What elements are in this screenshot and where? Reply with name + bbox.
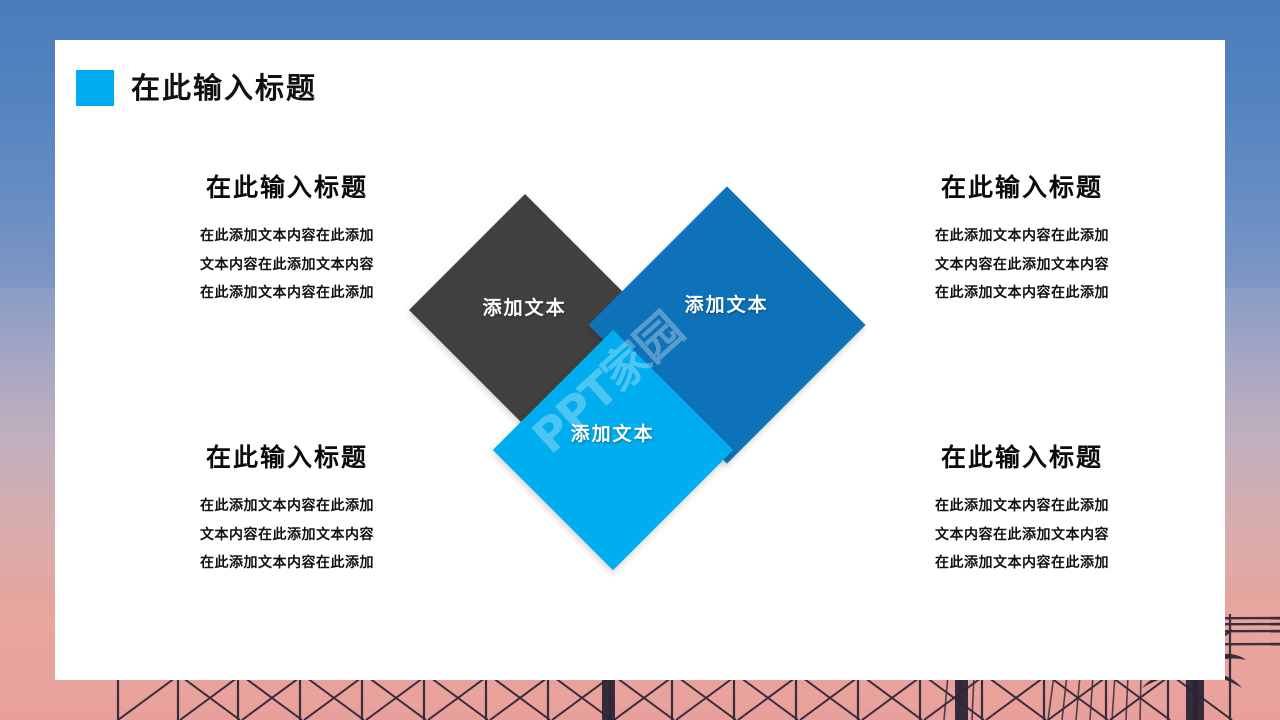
diamond-shape-blue: 添加文本: [588, 186, 865, 463]
quadrant-bottom-left: 在此输入标题 在此添加文本内容在此添加 文本内容在此添加文本内容 在此添加文本内…: [137, 438, 437, 578]
quadrant-body-line: 文本内容在此添加文本内容: [872, 251, 1172, 280]
diamond-label: 添加文本: [571, 418, 655, 445]
quadrant-body-line: 文本内容在此添加文本内容: [137, 521, 437, 550]
diamond-diagram: 添加文本 添加文本 添加文本 PPT家园: [55, 40, 1225, 680]
quadrant-title: 在此输入标题: [872, 168, 1172, 204]
quadrant-body: 在此添加文本内容在此添加 文本内容在此添加文本内容 在此添加文本内容在此添加: [137, 492, 437, 578]
diamond-label: 添加文本: [685, 289, 769, 316]
diamond-shape-dark: 添加文本: [409, 194, 641, 426]
content-card: 在此输入标题 在此输入标题 在此添加文本内容在此添加 文本内容在此添加文本内容 …: [55, 40, 1225, 680]
page-title: 在此输入标题: [131, 74, 317, 103]
quadrant-body-line: 在此添加文本内容在此添加: [137, 492, 437, 521]
quadrant-body-line: 在此添加文本内容在此添加: [872, 222, 1172, 251]
quadrant-body-line: 文本内容在此添加文本内容: [872, 521, 1172, 550]
diamond-label: 添加文本: [483, 292, 567, 319]
quadrant-body-line: 在此添加文本内容在此添加: [137, 222, 437, 251]
quadrant-top-left: 在此输入标题 在此添加文本内容在此添加 文本内容在此添加文本内容 在此添加文本内…: [137, 168, 437, 308]
quadrant-body: 在此添加文本内容在此添加 文本内容在此添加文本内容 在此添加文本内容在此添加: [137, 222, 437, 308]
diamond-shape-cyan: 添加文本: [493, 330, 733, 570]
square-marker-icon: [76, 70, 114, 106]
quadrant-body-line: 在此添加文本内容在此添加: [872, 492, 1172, 521]
quadrant-top-right: 在此输入标题 在此添加文本内容在此添加 文本内容在此添加文本内容 在此添加文本内…: [872, 168, 1172, 308]
quadrant-body: 在此添加文本内容在此添加 文本内容在此添加文本内容 在此添加文本内容在此添加: [872, 222, 1172, 308]
quadrant-body-line: 在此添加文本内容在此添加: [137, 279, 437, 308]
slide-canvas: 在此输入标题 在此输入标题 在此添加文本内容在此添加 文本内容在此添加文本内容 …: [0, 0, 1280, 720]
quadrant-bottom-right: 在此输入标题 在此添加文本内容在此添加 文本内容在此添加文本内容 在此添加文本内…: [872, 438, 1172, 578]
quadrant-body-line: 在此添加文本内容在此添加: [137, 549, 437, 578]
quadrant-body-line: 文本内容在此添加文本内容: [137, 251, 437, 280]
watermark-text: PPT家园: [516, 296, 695, 466]
quadrant-title: 在此输入标题: [137, 438, 437, 474]
quadrant-body-line: 在此添加文本内容在此添加: [872, 279, 1172, 308]
quadrant-body: 在此添加文本内容在此添加 文本内容在此添加文本内容 在此添加文本内容在此添加: [872, 492, 1172, 578]
slide-header: 在此输入标题: [76, 70, 317, 106]
watermark: PPT家园: [510, 285, 750, 465]
quadrant-body-line: 在此添加文本内容在此添加: [872, 549, 1172, 578]
quadrant-title: 在此输入标题: [872, 438, 1172, 474]
quadrant-title: 在此输入标题: [137, 168, 437, 204]
